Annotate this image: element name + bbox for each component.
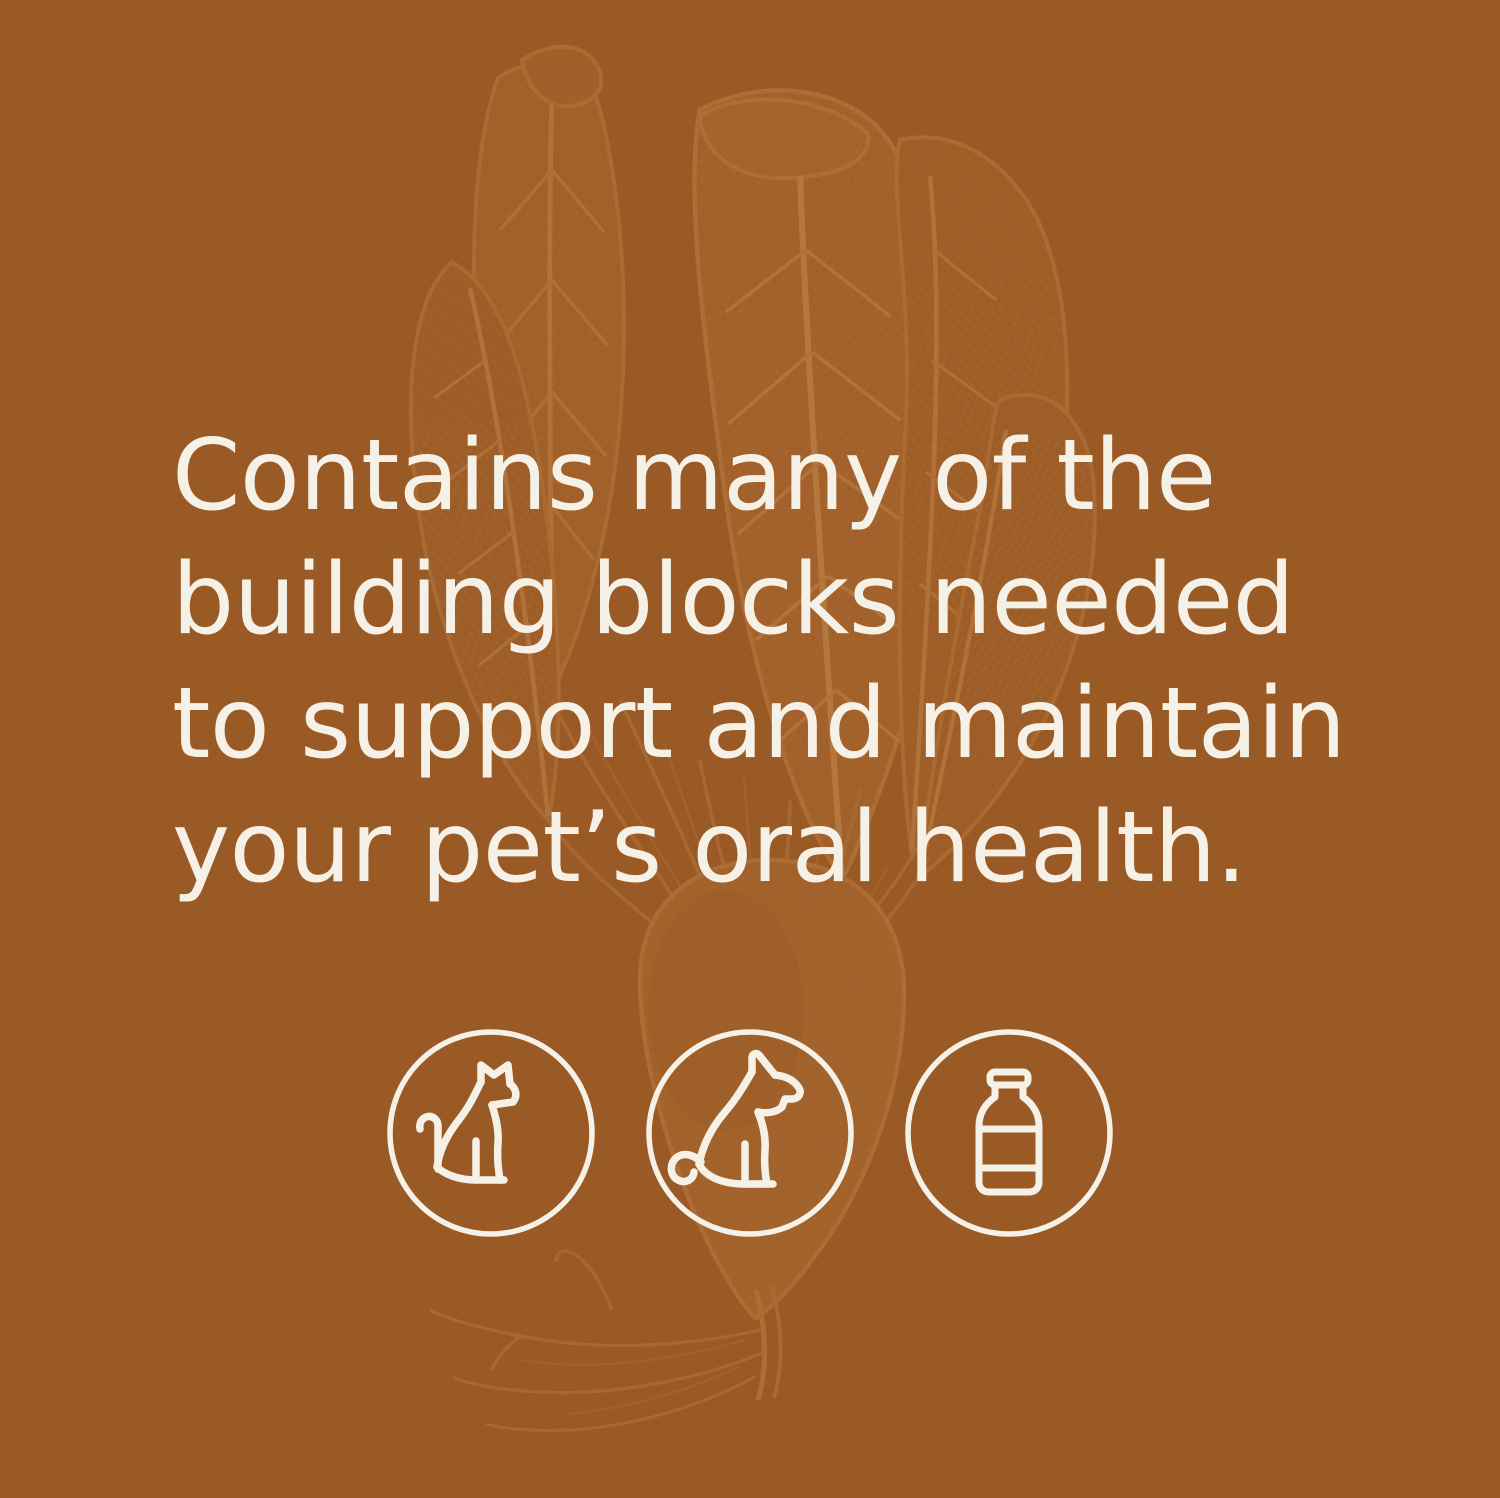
cat-icon-ring	[390, 1032, 592, 1234]
dog-icon	[639, 1022, 861, 1244]
bottle-icon-ring	[908, 1032, 1110, 1234]
cat-icon	[380, 1022, 602, 1244]
icon-row	[380, 1020, 1120, 1246]
bottle-icon	[898, 1022, 1120, 1244]
headline-text: Contains many of the building blocks nee…	[172, 414, 1382, 910]
benefit-card: Contains many of the building blocks nee…	[0, 0, 1500, 1498]
